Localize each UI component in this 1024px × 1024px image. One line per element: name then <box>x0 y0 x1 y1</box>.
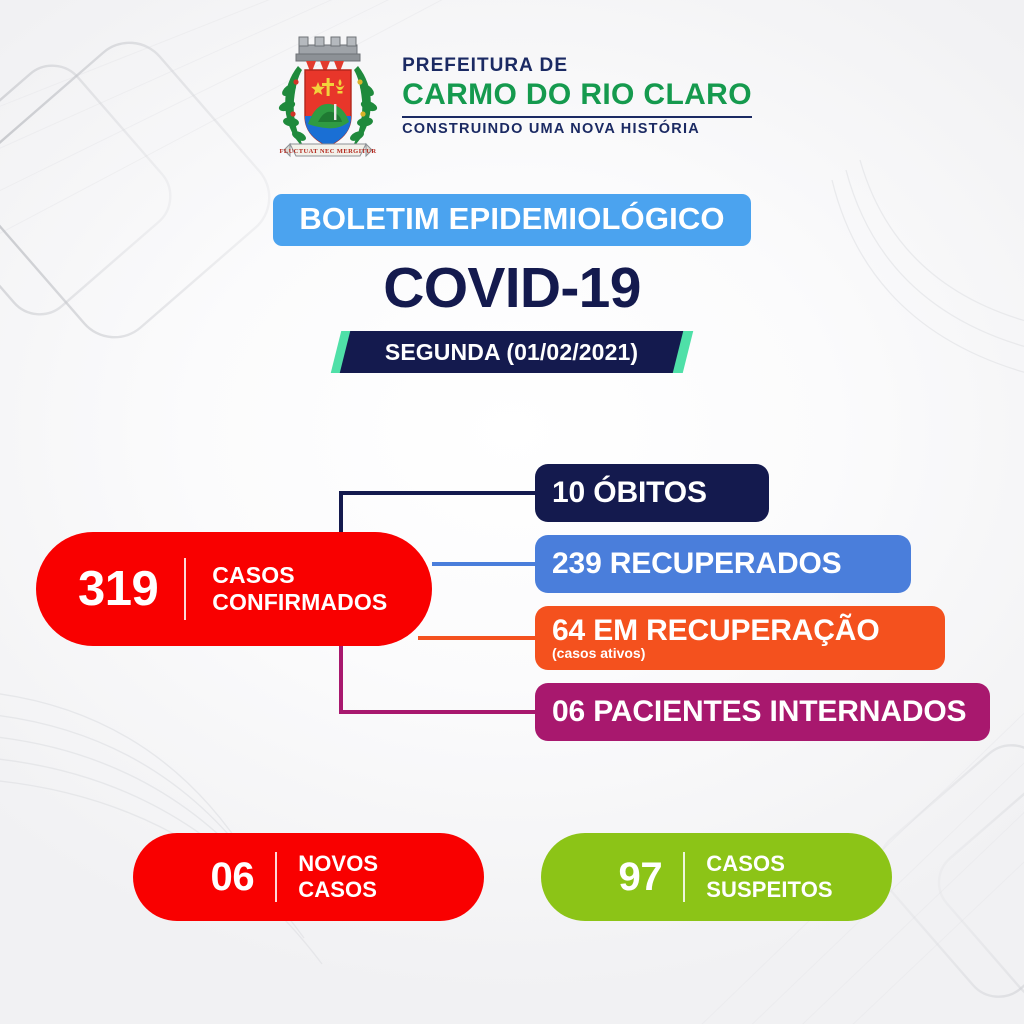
new-cases-card: 06 NOVOS CASOS <box>133 833 484 921</box>
stat-internados-text: 06 PACIENTES INTERNADOS <box>552 696 974 728</box>
stat-ativos-subtext: (casos ativos) <box>552 646 929 661</box>
wordmark-divider <box>402 116 752 118</box>
motto-ribbon: FLUCTUAT NEC MERGITUR <box>280 144 377 156</box>
stat-bar-recuperados: 239 RECUPERADOS <box>535 535 911 593</box>
date-banner: SEGUNDA (01/02/2021) <box>340 331 684 373</box>
city-name: CARMO DO RIO CLARO <box>402 78 752 112</box>
bottom-cards-row: 06 NOVOS CASOS 97 CASOS SUSPEITOS <box>0 833 1024 921</box>
new-cases-label-line2: CASOS <box>298 877 377 902</box>
case-breakdown-section: 319 CASOS CONFIRMADOS 10 ÓBITOS 239 RECU… <box>0 440 1024 760</box>
total-confirmed-card: 319 CASOS CONFIRMADOS <box>36 532 432 646</box>
total-label-line2: CONFIRMADOS <box>212 589 387 615</box>
mural-crown-icon <box>296 37 360 74</box>
total-confirmed-label: CASOS CONFIRMADOS <box>212 562 387 615</box>
coat-of-arms-icon: FLUCTUAT NEC MERGITUR <box>272 32 384 162</box>
new-cases-value: 06 <box>211 857 255 897</box>
page-title: COVID-19 <box>383 260 640 317</box>
bulletin-badge: BOLETIM EPIDEMIOLÓGICO <box>273 194 750 246</box>
stat-bar-obitos: 10 ÓBITOS <box>535 464 769 522</box>
stat-obitos-text: 10 ÓBITOS <box>552 477 753 509</box>
shield-icon <box>305 70 351 146</box>
suspected-cases-divider <box>683 852 685 902</box>
date-label: SEGUNDA (01/02/2021) <box>385 339 638 366</box>
prefecture-line: PREFEITURA DE <box>402 56 568 77</box>
total-label-line1: CASOS <box>212 562 294 588</box>
masthead: FLUCTUAT NEC MERGITUR PREFEITURA DE CARM… <box>0 32 1024 162</box>
suspected-cases-card: 97 CASOS SUSPEITOS <box>541 833 892 921</box>
stat-bar-ativos: 64 EM RECUPERAÇÃO (casos ativos) <box>535 606 945 670</box>
stat-bar-internados: 06 PACIENTES INTERNADOS <box>535 683 990 741</box>
new-cases-label-line1: NOVOS <box>298 851 378 876</box>
date-banner-wrapper: SEGUNDA (01/02/2021) <box>336 331 687 373</box>
title-block: BOLETIM EPIDEMIOLÓGICO COVID-19 SEGUNDA … <box>0 194 1024 373</box>
total-confirmed-value: 319 <box>78 565 158 614</box>
stat-ativos-text: 64 EM RECUPERAÇÃO <box>552 615 929 647</box>
suspected-cases-value: 97 <box>619 857 663 897</box>
city-tagline: CONSTRUINDO UMA NOVA HISTÓRIA <box>402 122 700 138</box>
stat-recuperados-text: 239 RECUPERADOS <box>552 548 895 580</box>
wordmark: PREFEITURA DE CARMO DO RIO CLARO CONSTRU… <box>402 56 752 138</box>
total-divider <box>184 558 186 620</box>
svg-text:FLUCTUAT NEC MERGITUR: FLUCTUAT NEC MERGITUR <box>280 148 377 155</box>
suspected-cases-label-line2: SUSPEITOS <box>706 877 833 902</box>
new-cases-divider <box>275 852 277 902</box>
suspected-cases-label: CASOS SUSPEITOS <box>706 851 833 902</box>
new-cases-label: NOVOS CASOS <box>298 851 378 902</box>
suspected-cases-label-line1: CASOS <box>706 851 785 876</box>
